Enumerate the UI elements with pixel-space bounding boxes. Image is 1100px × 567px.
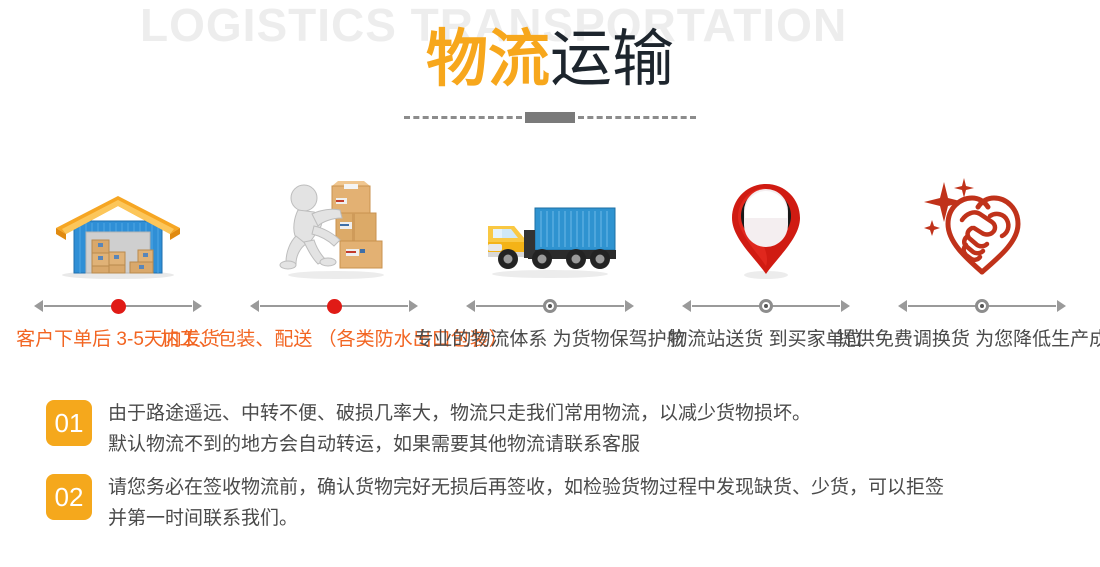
worker-pushing-boxes-icon-svg	[274, 176, 394, 280]
page-title: 物流运输	[0, 24, 1100, 96]
arrow-left-icon	[250, 300, 259, 312]
arrow-left-icon	[466, 300, 475, 312]
feature-connector	[466, 296, 634, 316]
note-text: 由于路途遥远、中转不便、破损几率大，物流只走我们常用物流，以减少货物损坏。 默认…	[108, 398, 811, 460]
feature-label-line-1: 提供免费调换货	[837, 329, 970, 350]
connector-dot	[327, 299, 342, 314]
feature-item-free-exchange: 提供免费调换货 为您降低生产成本	[882, 172, 1082, 353]
feature-connector	[34, 296, 202, 316]
warehouse-icon-svg	[52, 188, 184, 280]
feature-item-truck: 专业的物流体系 为货物保驾护航	[450, 172, 650, 353]
feature-connector	[682, 296, 850, 316]
worker-pushing-boxes-icon	[274, 172, 394, 280]
note-badge: 02	[46, 474, 92, 520]
divider-block	[525, 112, 575, 123]
feature-label: 专业的物流体系 为货物保驾护航	[414, 326, 685, 353]
note-badge: 01	[46, 400, 92, 446]
note-text-line-2: 并第一时间联系我们。	[108, 503, 944, 534]
handshake-heart-icon-svg	[920, 176, 1044, 280]
container-truck-icon-svg	[480, 200, 620, 280]
arrow-left-icon	[898, 300, 907, 312]
feature-label: 提供免费调换货 为您降低生产成本	[837, 326, 1100, 353]
container-truck-icon	[480, 172, 620, 280]
note-text-line-1: 由于路途遥远、中转不便、破损几率大，物流只走我们常用物流，以减少货物损坏。	[108, 398, 811, 429]
arrow-right-icon	[409, 300, 418, 312]
feature-item-packaging: 加工、包装、配送 （各类防水出口包装）	[234, 172, 434, 353]
note-text-line-2: 默认物流不到的地方会自动转运，如果需要其他物流请联系客服	[108, 429, 811, 460]
connector-dot	[975, 299, 989, 313]
page-title-dark: 运输	[550, 25, 674, 94]
note-item: 01 由于路途遥远、中转不便、破损几率大，物流只走我们常用物流，以减少货物损坏。…	[46, 398, 1054, 460]
feature-label: 物流站送货 到买家单位	[668, 326, 863, 353]
header: LOGISTICS TRANSPORTATION 物流运输	[0, 0, 1100, 150]
notes-section: 01 由于路途遥远、中转不便、破损几率大，物流只走我们常用物流，以减少货物损坏。…	[0, 398, 1100, 546]
divider-dash-left	[404, 116, 522, 119]
logistics-transportation-banner: LOGISTICS TRANSPORTATION 物流运输	[0, 0, 1100, 567]
arrow-left-icon	[682, 300, 691, 312]
connector-dot	[543, 299, 557, 313]
map-pin-icon-svg	[721, 180, 811, 280]
divider-dash-right	[578, 116, 696, 119]
feature-label-line-1: 客户下单后	[16, 329, 111, 350]
feature-connector	[898, 296, 1066, 316]
feature-connector	[250, 296, 418, 316]
feature-label-line-1: 专业的物流体系	[414, 329, 547, 350]
feature-label-line-2: 为您降低生产成本	[975, 329, 1100, 350]
arrow-right-icon	[1057, 300, 1066, 312]
connector-dot	[759, 299, 773, 313]
feature-list: 客户下单后 3-5天内发货	[0, 172, 1100, 353]
feature-label-line-1: 加工、包装、配送	[160, 329, 312, 350]
arrow-right-icon	[625, 300, 634, 312]
warehouse-icon	[52, 172, 184, 280]
map-pin-icon	[721, 172, 811, 280]
arrow-right-icon	[841, 300, 850, 312]
note-text-line-1: 请您务必在签收物流前，确认货物完好无损后再签收，如检验货物过程中发现缺货、少货，…	[108, 472, 944, 503]
handshake-heart-icon	[920, 172, 1044, 280]
arrow-left-icon	[34, 300, 43, 312]
note-item: 02 请您务必在签收物流前，确认货物完好无损后再签收，如检验货物过程中发现缺货、…	[46, 472, 1054, 534]
page-title-orange: 物流	[426, 25, 550, 94]
note-text: 请您务必在签收物流前，确认货物完好无损后再签收，如检验货物过程中发现缺货、少货，…	[108, 472, 944, 534]
title-divider	[0, 112, 1100, 123]
arrow-right-icon	[193, 300, 202, 312]
feature-label-line-1: 物流站送货	[668, 329, 763, 350]
connector-dot	[111, 299, 126, 314]
